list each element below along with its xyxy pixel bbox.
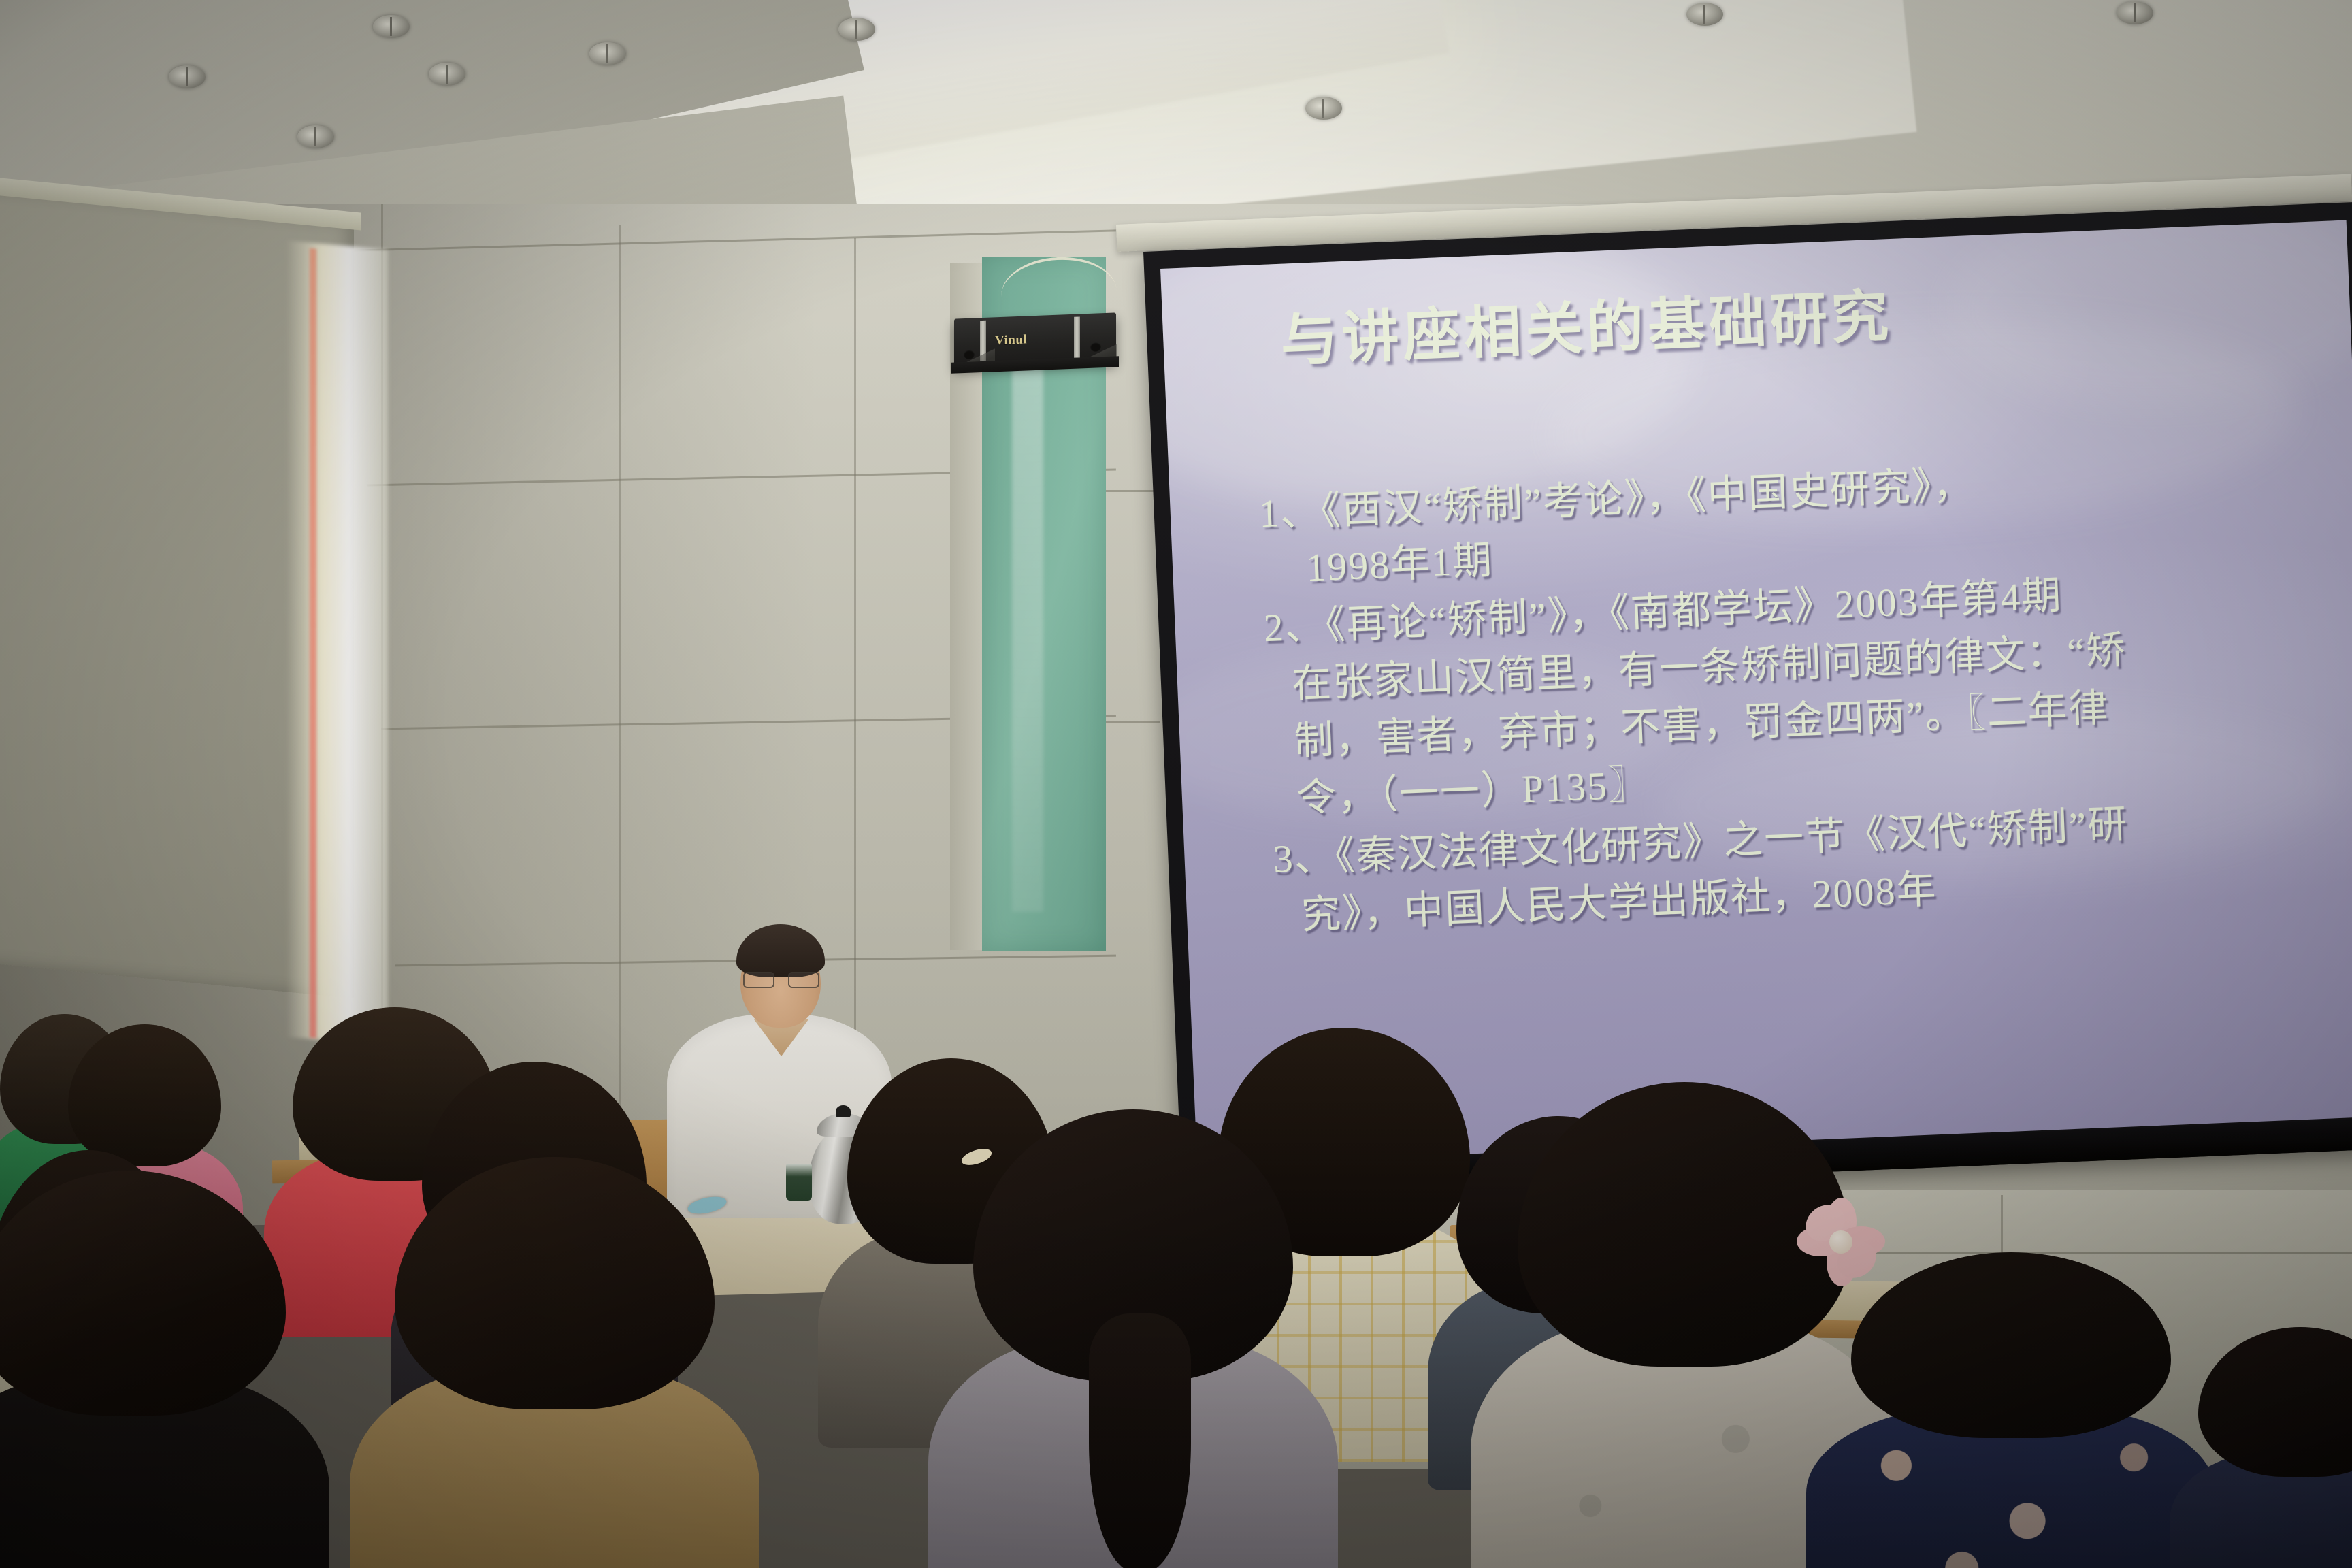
speaker-port-icon (964, 349, 975, 359)
daylight-edge-fringe (310, 248, 316, 1039)
ponytail (1089, 1313, 1191, 1568)
audience-member (1851, 1252, 2171, 1568)
speaker-brand-label: Vinul (995, 332, 1027, 348)
downlight-icon (373, 15, 410, 38)
downlight-icon (1305, 97, 1342, 120)
downlight-icon (169, 65, 206, 88)
column-gloss-reflection (1012, 367, 1043, 912)
slide-line: 1998年1期 (1305, 527, 1494, 592)
slide-title: 与讲座相关的基础研究 (1279, 270, 1894, 378)
paper-cup (786, 1164, 812, 1200)
audience-head (1851, 1252, 2171, 1438)
wall-seam (619, 225, 621, 1177)
downlight-icon (429, 63, 465, 86)
downlight-icon (589, 42, 626, 65)
audience-head (395, 1157, 715, 1409)
audience-member (1518, 1082, 1851, 1568)
downlight-icon (1686, 3, 1723, 26)
glasses-icon (743, 972, 819, 987)
projected-slide: 与讲座相关的基础研究 1、《西汉“矫制”考论》，《中国史研究》， 1998年1期… (1160, 220, 2352, 1164)
audience-member (2198, 1327, 2352, 1568)
audience-head (68, 1024, 221, 1166)
downlight-icon (2117, 1, 2153, 24)
wall-seam (1106, 721, 1160, 723)
daylight-glow (286, 240, 388, 1045)
speaker-port-icon (1090, 342, 1101, 352)
audience-member (395, 1157, 715, 1568)
audience-member (0, 1171, 286, 1568)
slide-line: 1、《西汉“矫制”考论》，《中国史研究》， (1258, 452, 1974, 538)
audience-head (0, 1171, 286, 1416)
audience-head (2198, 1327, 2352, 1477)
downlight-icon (838, 18, 875, 41)
downlight-icon (297, 125, 334, 148)
lecture-hall-photo: Vinul 与讲座相关的基础研究 1、《西汉“矫制”考论》，《中国史研究》， 1… (0, 0, 2352, 1568)
speaker-trim-bar (1074, 316, 1080, 357)
slide-text-layer: 与讲座相关的基础研究 1、《西汉“矫制”考论》，《中国史研究》， 1998年1期… (1160, 220, 2352, 1164)
wall-seam (1106, 490, 1160, 492)
